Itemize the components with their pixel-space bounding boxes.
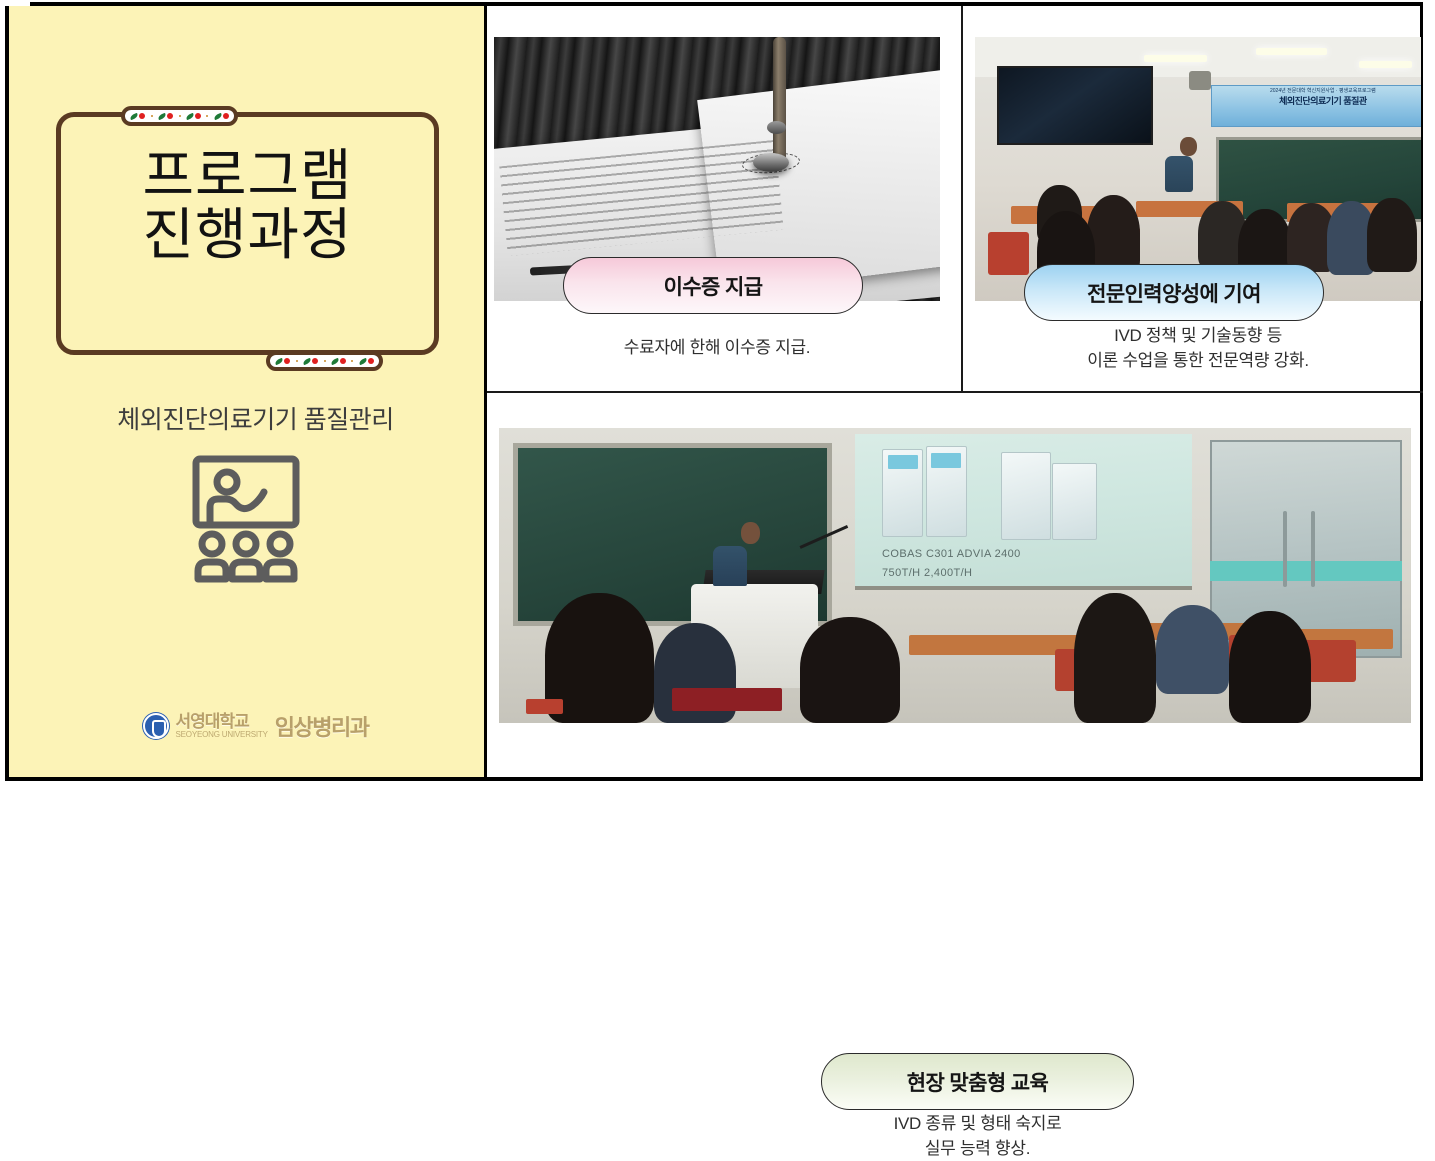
slide-root: 프로그램 진행과정 체외진단의료기기 품질관리 서영대학교 SEOYEONG U…: [0, 0, 1435, 786]
holly-ornament: [130, 113, 145, 119]
program-subtitle: 체외진단의료기기 품질관리: [18, 400, 493, 436]
ribbon-ornament-bottom: [266, 351, 383, 371]
classroom-projector-photo: COBAS C301 ADVIA 2400 750T/H 2,400T/H: [499, 428, 1411, 723]
cell-expert: 2024년 전문대학 혁신지원사업 · 평생교육프로그램 체외진단의료기기 품질…: [963, 6, 1423, 391]
caption-line: 이론 수업을 통한 전문역량 강화.: [975, 349, 1421, 374]
photo-banner-title: 체외진단의료기기 품질관: [1279, 96, 1367, 106]
slide-text-line-2: 750T/H 2,400T/H: [882, 565, 972, 582]
caption-certificate: 수료자에 한해 이수증 지급.: [494, 336, 940, 361]
cell-field: COBAS C301 ADVIA 2400 750T/H 2,400T/H: [487, 393, 1423, 777]
holly-ornament: [186, 113, 201, 119]
university-crest-icon: [143, 713, 169, 739]
university-name-ko: 서영대학교: [176, 713, 268, 730]
badge-certificate[interactable]: 이수증 지급: [563, 257, 863, 314]
lecture-room-photo: 2024년 전문대학 혁신지원사업 · 평생교육프로그램 체외진단의료기기 품질…: [975, 37, 1421, 301]
holly-ornament: [303, 358, 318, 364]
department-logo: 서영대학교 SEOYEONG UNIVERSITY 임상병리과: [18, 710, 493, 742]
university-name-en: SEOYEONG UNIVERSITY: [176, 731, 268, 739]
holly-ornament: [275, 358, 290, 364]
university-name-block: 서영대학교 SEOYEONG UNIVERSITY: [176, 713, 268, 739]
caption-line: IVD 정책 및 기술동향 등: [975, 324, 1421, 349]
holly-ornament: [359, 358, 374, 364]
slide-text-line-1: COBAS C301 ADVIA 2400: [882, 546, 1021, 563]
caption-field: IVD 종류 및 형태 숙지로 실무 능력 향상.: [821, 1112, 1134, 1161]
badge-expert[interactable]: 전문인력양성에 기여: [1024, 264, 1324, 321]
dot-separator: [351, 360, 353, 362]
frame-border-bottom: [5, 777, 1423, 781]
cell-certificate: 이수증 지급 수료자에 한해 이수증 지급.: [487, 6, 961, 391]
dot-separator: [151, 115, 153, 117]
dot-separator: [179, 115, 181, 117]
department-name: 임상병리과: [275, 710, 369, 742]
page-title: 프로그램 진행과정: [56, 146, 439, 265]
caption-line: 수료자에 한해 이수증 지급.: [494, 336, 940, 361]
title-line-2: 진행과정: [56, 205, 439, 264]
title-line-1: 프로그램: [56, 146, 439, 205]
dot-separator: [206, 115, 208, 117]
holly-ornament: [214, 113, 229, 119]
classroom-presentation-icon: [176, 449, 316, 589]
holly-ornament: [331, 358, 346, 364]
dot-separator: [296, 360, 298, 362]
badge-field[interactable]: 현장 맞춤형 교육: [821, 1053, 1134, 1110]
left-title-panel: 프로그램 진행과정 체외진단의료기기 품질관리 서영대학교 SEOYEONG U…: [9, 6, 484, 777]
dot-separator: [324, 360, 326, 362]
caption-line: 실무 능력 향상.: [821, 1137, 1134, 1161]
photo-banner-heading: 2024년 전문대학 혁신지원사업 · 평생교육프로그램: [1270, 88, 1376, 94]
caption-line: IVD 종류 및 형태 숙지로: [821, 1112, 1134, 1137]
ribbon-ornament-top: [121, 106, 238, 126]
caption-expert: IVD 정책 및 기술동향 등 이론 수업을 통한 전문역량 강화.: [975, 324, 1421, 373]
holly-ornament: [158, 113, 173, 119]
